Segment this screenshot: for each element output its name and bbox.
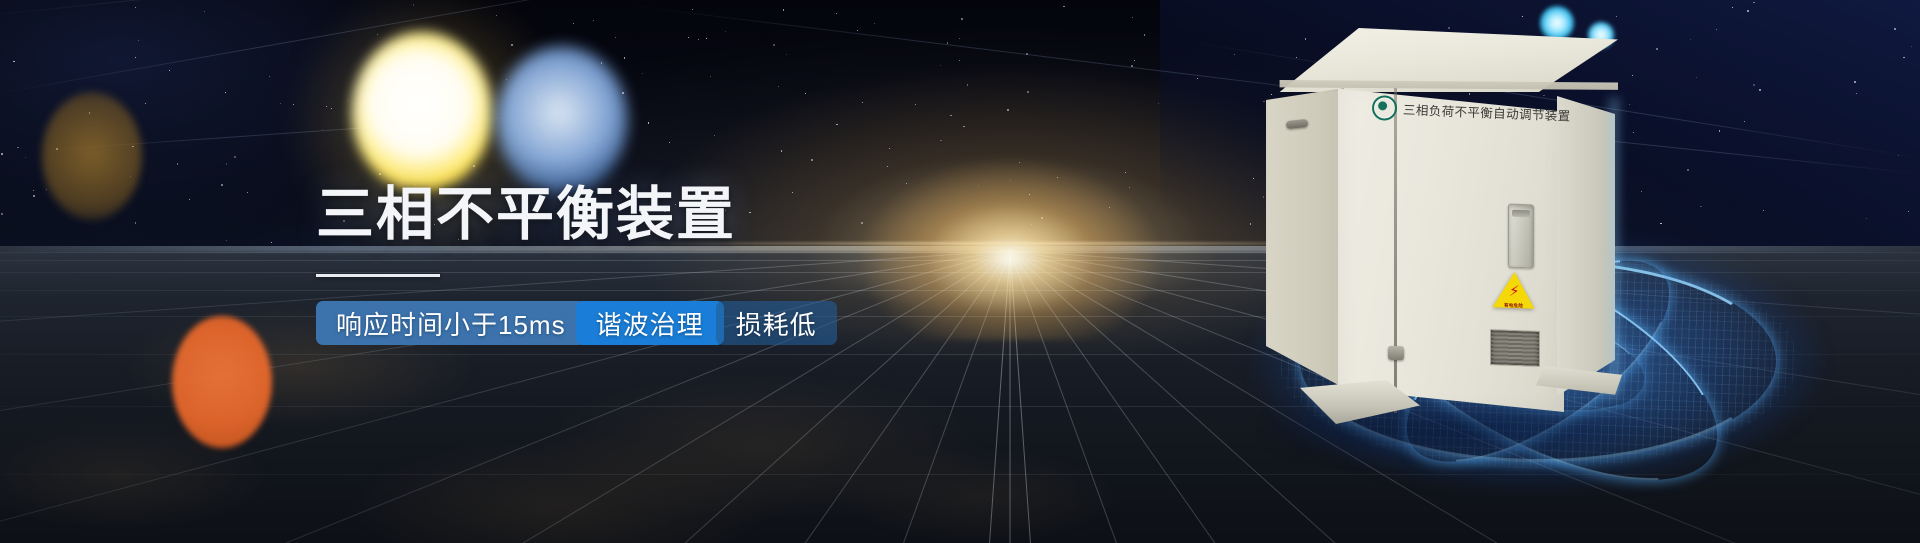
electrical-cabinet: 三相负荷不平衡自动调节装置 ⚡ 有电危险: [1310, 28, 1730, 448]
cabinet-door-handle-icon: [1508, 204, 1534, 269]
cabinet-door-seam: [1394, 88, 1397, 413]
lightning-bolt-icon: ⚡: [1509, 284, 1520, 299]
title-divider: [316, 274, 440, 277]
banner-copy: 三相不平衡装置 响应时间小于15ms 谐波治理 损耗低: [316, 186, 956, 345]
orange-bokeh-orb: [172, 316, 272, 448]
page-title: 三相不平衡装置: [316, 186, 956, 244]
white-yellow-bokeh-orb: [352, 32, 492, 192]
high-voltage-warning-icon: ⚡ 有电危险: [1492, 271, 1535, 310]
feature-pill-response-time[interactable]: 响应时间小于15ms: [316, 301, 586, 345]
hero-banner: 三相负荷不平衡自动调节装置 ⚡ 有电危险 三相不平衡装置 响应时间小于15ms …: [0, 0, 1920, 543]
blue-bokeh-orb: [496, 46, 628, 194]
feature-pill-low-loss[interactable]: 损耗低: [716, 301, 837, 345]
cabinet-rim-light: [1606, 98, 1618, 398]
amber-bokeh-orb: [42, 92, 142, 220]
warning-label: 有电危险: [1500, 303, 1526, 310]
cabinet-latch-icon: [1388, 346, 1404, 361]
vent-grille-icon: [1490, 329, 1540, 367]
product-label-text: 三相负荷不平衡自动调节装置: [1403, 99, 1571, 124]
feature-pill-list: 响应时间小于15ms 谐波治理 损耗低: [316, 301, 956, 345]
company-logo-icon: [1372, 94, 1398, 120]
cabinet-side-panel: [1266, 88, 1344, 388]
feature-pill-harmonic[interactable]: 谐波治理: [576, 301, 724, 345]
